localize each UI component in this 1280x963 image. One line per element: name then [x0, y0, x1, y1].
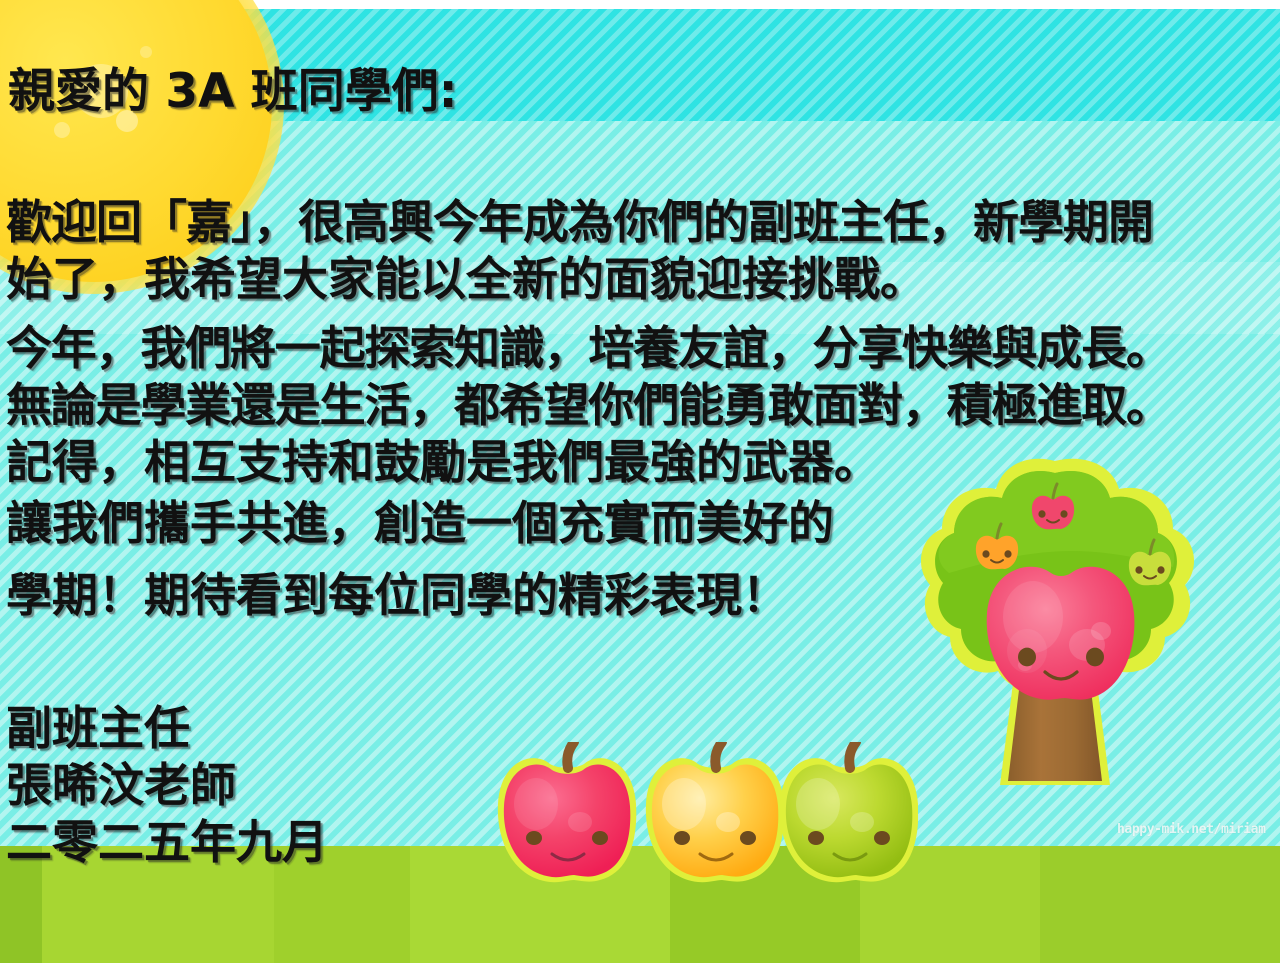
apple-green [780, 742, 918, 882]
ground-stripe [274, 846, 410, 963]
ground-stripe [42, 846, 274, 963]
sky-band-top [0, 9, 1280, 121]
apple-tree-illustration [905, 455, 1205, 875]
apple-red [498, 742, 636, 882]
big-apple-pink [987, 567, 1135, 700]
apple-yellow [646, 742, 784, 882]
sky-band-light [0, 262, 1280, 334]
class-letter-poster: happy-mik.net/miriam 親愛的 3A 班同學們: 歡迎回「嘉」… [0, 0, 1280, 963]
ground-stripe [0, 846, 42, 963]
top-white-strip [0, 0, 1280, 9]
watermark: happy-mik.net/miriam [1117, 822, 1266, 837]
ground-apples-illustration [488, 742, 918, 902]
